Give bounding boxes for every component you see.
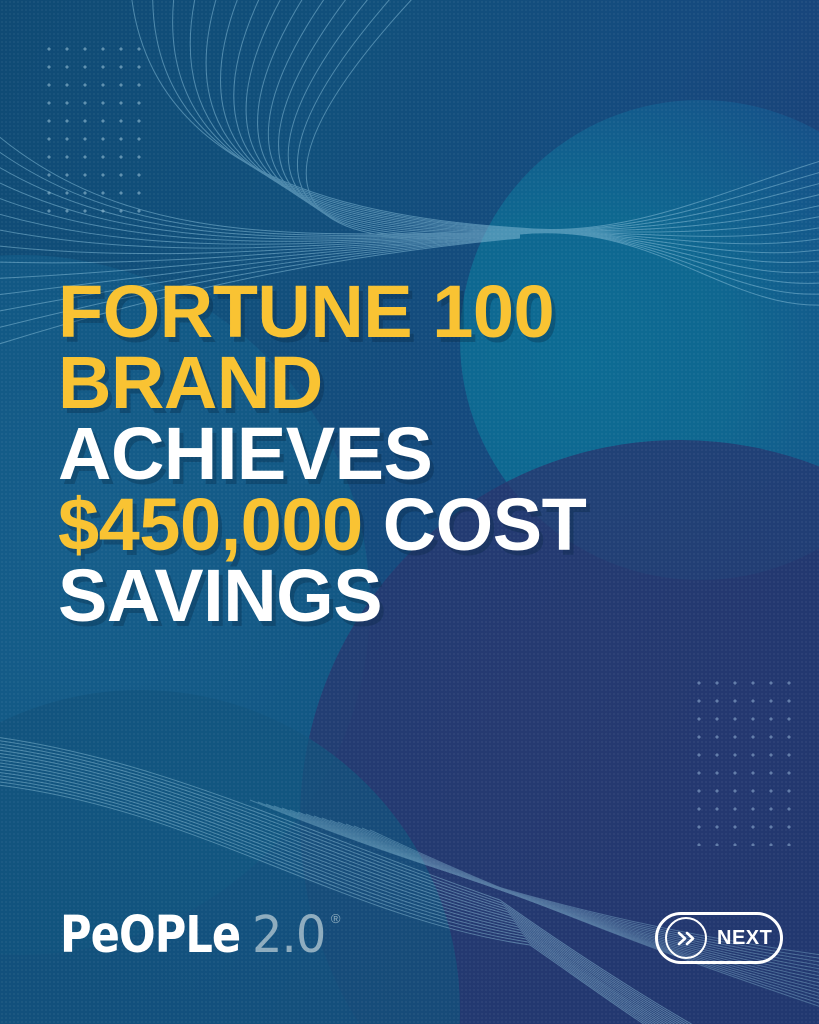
brand-logo: PeOPLe 2.0 ®	[60, 910, 340, 961]
next-button[interactable]: NEXT	[655, 912, 783, 964]
headline-line-2: BRAND	[58, 347, 758, 418]
headline-line-1: FORTUNE 100	[58, 276, 758, 347]
dot-grid-top-left	[38, 38, 148, 220]
double-chevron-right-icon	[665, 917, 707, 959]
registered-trademark-icon: ®	[331, 912, 341, 925]
headline-line-4: $450,000 COST	[58, 489, 758, 560]
next-button-label: NEXT	[717, 927, 772, 950]
promo-card: FORTUNE 100 BRAND ACHIEVES $450,000 COST…	[0, 0, 819, 1024]
logo-version: 2.0	[252, 910, 325, 961]
dot-grid-bottom-right	[688, 672, 792, 846]
headline-cost-word: COST	[363, 483, 587, 566]
headline-line-3: ACHIEVES	[58, 418, 758, 489]
page-title: FORTUNE 100 BRAND ACHIEVES $450,000 COST…	[58, 276, 758, 631]
headline-line-5: SAVINGS	[58, 560, 758, 631]
logo-wordmark: PeOPLe	[60, 910, 240, 961]
